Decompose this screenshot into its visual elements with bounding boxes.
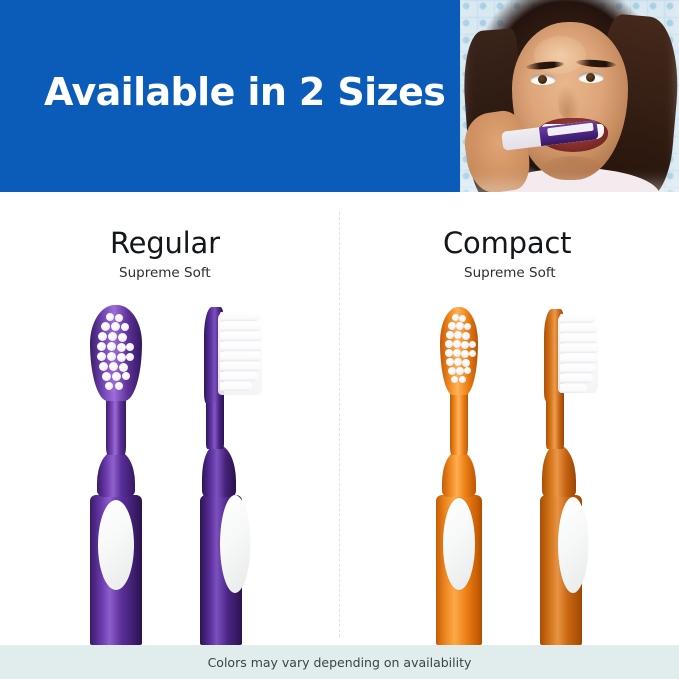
bristle-field-top-view [428, 305, 490, 645]
section-divider [339, 212, 340, 637]
iris-right [586, 73, 595, 82]
toothbrush-compact-top-view [428, 305, 490, 645]
size-title-regular: Regular [110, 226, 220, 260]
nose [558, 84, 580, 118]
bristle-tufts-side-view [196, 305, 270, 645]
grip-pad [443, 498, 475, 590]
product-infographic: Available in 2 Sizes Regular Supreme Sof… [0, 0, 679, 679]
size-subtitle-compact: Supreme Soft [464, 265, 556, 281]
iris-left [538, 75, 547, 84]
size-subtitle-regular: Supreme Soft [119, 265, 211, 281]
grip-pad [558, 497, 588, 593]
grip-pad [220, 495, 250, 593]
footer-disclaimer: Colors may vary depending on availabilit… [0, 655, 679, 670]
grip-pad [98, 500, 134, 590]
page-title: Available in 2 Sizes [44, 70, 445, 114]
toothbrush-compact-side-view [534, 305, 606, 645]
bristle-tufts-side-view [534, 305, 606, 645]
chin-shadow [544, 156, 600, 176]
toothbrush-regular-side-view [196, 305, 270, 645]
eye-right [578, 72, 604, 83]
woman-brushing-teeth-photo [460, 0, 679, 192]
size-title-compact: Compact [443, 226, 571, 260]
toothbrush-regular-top-view [84, 305, 148, 645]
bristle-field-top-view [84, 305, 148, 645]
eye-left [530, 74, 556, 85]
